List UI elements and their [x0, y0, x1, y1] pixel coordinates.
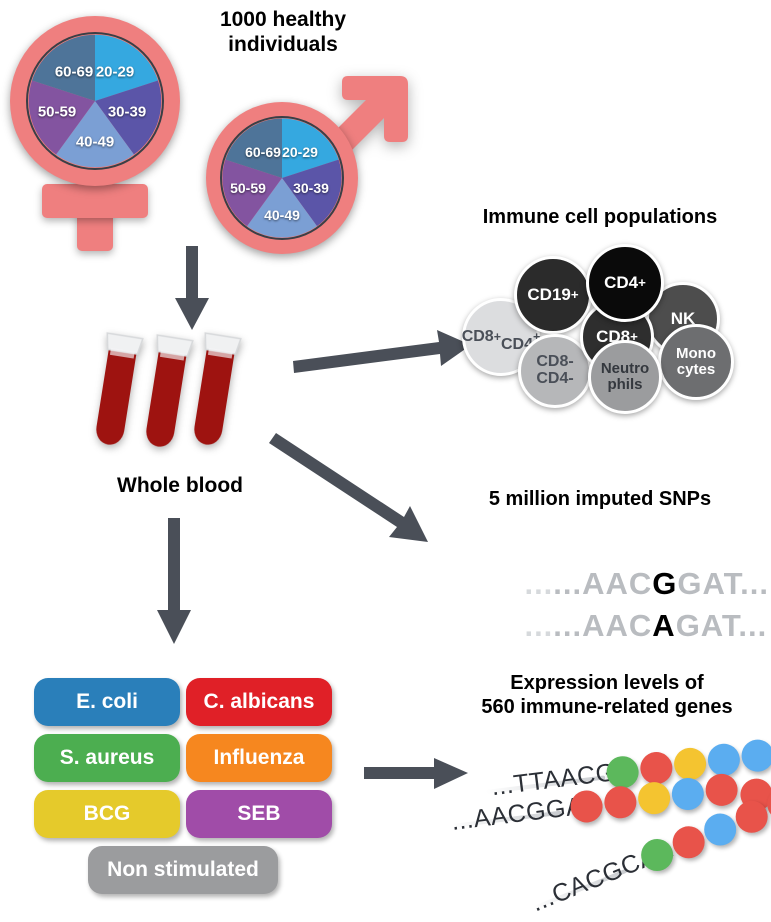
arrow-down-cohort-to-blood	[172, 246, 212, 336]
snp-allele-row-2: ......AACAGAT...	[486, 572, 767, 680]
female-symbol: 20-29 30-39 40-49 50-59 60-69	[10, 16, 190, 251]
immune-cell-monocytes: Monocytes	[658, 324, 734, 400]
expression-heading: Expression levels of 560 immune-related …	[452, 672, 762, 719]
stimulus-seb[interactable]: SEB	[186, 790, 332, 838]
arrow-down-blood-to-stimuli	[154, 518, 194, 648]
strand-2-bead	[636, 780, 672, 816]
whole-blood-label: Whole blood	[80, 474, 280, 499]
arrow-stimuli-to-expression	[364, 756, 474, 792]
stimulus-c-albicans[interactable]: C. albicans	[186, 678, 332, 726]
immune-cell-cd4pos: CD4+	[586, 244, 664, 322]
snp-2-suffix: GAT...	[676, 608, 768, 643]
snp-2-prefix: ...AAC	[553, 608, 652, 643]
blood-tubes-group	[98, 330, 278, 455]
male-pie-svg	[220, 116, 344, 240]
strand-2-bead	[704, 772, 740, 808]
strand-2-bead	[670, 776, 706, 812]
male-age-pie: 20-29 30-39 40-49 50-59 60-69	[220, 116, 344, 240]
snps-heading: 5 million imputed SNPs	[440, 488, 760, 512]
immune-cells-group: CD8+CD4+ CD19+ CD4+ NK CD8+ CD8-CD4- Neu…	[462, 240, 762, 415]
immune-cell-neutrophils: Neutrophils	[588, 340, 662, 414]
male-symbol: 20-29 30-39 40-49 50-59 60-69	[206, 80, 421, 255]
snp-2-ellipsis-left: ...	[524, 608, 553, 643]
female-age-pie: 20-29 30-39 40-49 50-59 60-69	[26, 32, 164, 170]
cohort-heading: 1000 healthy individuals	[178, 8, 388, 58]
stimulus-s-aureus[interactable]: S. aureus	[34, 734, 180, 782]
stimulus-e-coli[interactable]: E. coli	[34, 678, 180, 726]
stimulus-influenza[interactable]: Influenza	[186, 734, 332, 782]
figure-canvas: 1000 healthy individuals 20-29 30-39 40-…	[0, 0, 771, 922]
stimulus-bcg[interactable]: BCG	[34, 790, 180, 838]
stimuli-group: E. coli C. albicans S. aureus Influenza …	[34, 678, 334, 900]
arrow-blood-to-snps	[276, 433, 456, 553]
stimulus-non-stimulated[interactable]: Non stimulated	[88, 846, 278, 894]
immune-cell-cd19pos: CD19+	[514, 256, 592, 334]
strand-2-bead	[603, 784, 639, 820]
female-stem-cross	[42, 184, 148, 218]
female-pie-svg	[26, 32, 164, 170]
snp-2-variant: A	[652, 608, 675, 643]
arrow-blood-to-immune-cells	[293, 325, 473, 375]
immune-cells-heading: Immune cell populations	[440, 206, 760, 230]
